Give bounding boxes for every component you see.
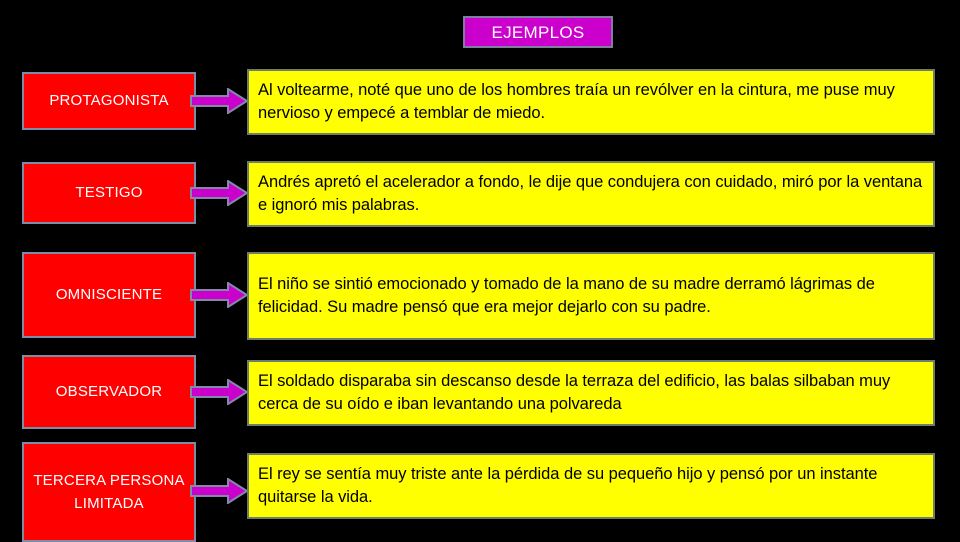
narrator-type-label-observador[interactable]: OBSERVADOR: [22, 355, 196, 429]
narrator-type-label-text: OBSERVADOR: [52, 380, 166, 403]
example-row: TERCERA PERSONA LIMITADA El rey se sentí…: [0, 0, 960, 110]
example-text: El soldado disparaba sin descanso desde …: [249, 370, 933, 417]
example-text-box: El rey se sentía muy triste ante la pérd…: [247, 453, 935, 519]
right-arrow-icon: [190, 478, 248, 504]
example-text: El rey se sentía muy triste ante la pérd…: [249, 463, 933, 510]
slide-canvas: EJEMPLOS PROTAGONISTA Al voltearme, noté…: [0, 0, 960, 540]
example-text-box: El soldado disparaba sin descanso desde …: [247, 360, 935, 426]
right-arrow-icon: [190, 379, 248, 405]
narrator-type-label-text: TERCERA PERSONA LIMITADA: [24, 469, 194, 516]
narrator-type-label-tercera-persona-limitada[interactable]: TERCERA PERSONA LIMITADA: [22, 442, 196, 542]
